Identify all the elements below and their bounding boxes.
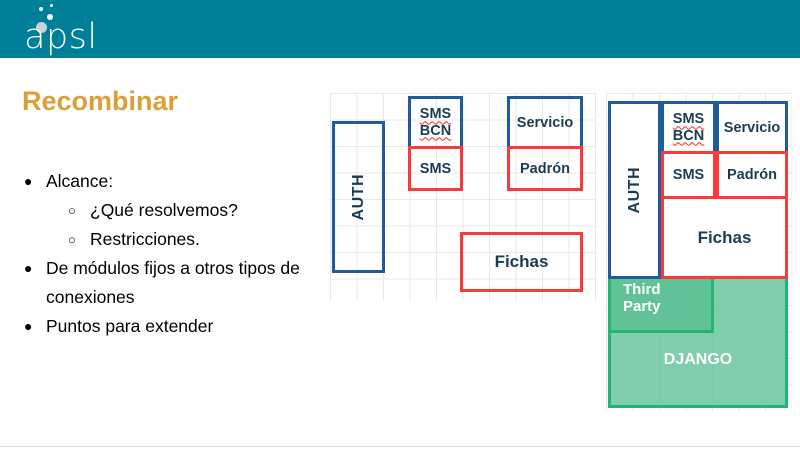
right-box-django-label: DJANGO [664,351,732,369]
right-box-padron-label: Padrón [727,167,777,183]
right-box-third-party-label-line1: Third [623,282,661,299]
footer-divider [0,446,800,447]
left-box-fichas-label: Fichas [495,252,549,272]
logo-bubble-small-icon [39,7,43,11]
list-item-label: De módulos fijos a otros tipos de conexi… [46,254,314,312]
left-box-sms-bcn-label-line1: SMS [420,106,451,122]
right-box-sms-label: SMS [673,167,704,183]
left-box-fichas: Fichas [460,232,583,292]
list-item-label: ¿Qué resolvemos? [90,196,314,225]
list-item-label: Puntos para extender [46,312,314,341]
left-box-padron-label: Padrón [520,161,570,177]
bullet-marker-icon: ● [24,254,46,283]
diagram-left-grid: AUTH SMS BCN SMS Servicio Padrón Fichas [330,93,596,301]
logo-bubble-tiny-icon [50,4,53,7]
logo-wordmark: apsl [24,20,98,55]
right-box-fichas-label: Fichas [698,228,752,248]
list-item: ● Puntos para extender [24,312,314,341]
left-box-sms: SMS [408,146,463,191]
right-box-padron: Padrón [716,151,788,199]
right-box-sms-bcn-label-line1: SMS [673,111,704,127]
left-box-sms-bcn-label-line2: BCN [420,123,451,139]
page-title: Recombinar [22,86,178,117]
bullet-marker-icon: ● [24,167,46,196]
list-item: ○ ¿Qué resolvemos? [68,196,314,225]
left-box-padron: Padrón [507,146,583,191]
right-box-third-party-label-line2: Party [623,299,661,316]
left-box-sms-bcn: SMS BCN [408,96,463,149]
left-box-servicio: Servicio [507,96,583,149]
right-box-auth-label: AUTH [626,167,644,213]
left-box-servicio-label: Servicio [517,115,573,131]
right-box-sms-bcn: SMS BCN [661,101,716,154]
list-item-label: Restricciones. [90,225,314,254]
left-box-auth: AUTH [332,121,385,273]
list-item-label: Alcance: [46,167,314,196]
header-band: apsl [0,0,800,58]
left-box-auth-label: AUTH [350,174,368,220]
right-box-fichas: Fichas [661,196,788,279]
bullet-marker-icon: ● [24,312,46,341]
right-box-sms: SMS [661,151,716,199]
diagram-right-grid: DJANGO Third Party AUTH SMS BCN Servicio… [606,93,792,411]
list-item: ● De módulos fijos a otros tipos de cone… [24,254,314,312]
apsl-logo: apsl [14,4,124,58]
left-box-sms-label: SMS [420,161,451,177]
bullet-list: ● Alcance: ○ ¿Qué resolvemos? ○ Restricc… [24,167,314,341]
right-box-sms-bcn-label-line2: BCN [673,128,704,144]
right-box-auth: AUTH [608,101,661,279]
bullet-marker-icon: ○ [68,196,90,225]
list-item: ● Alcance: [24,167,314,196]
list-item: ○ Restricciones. [68,225,314,254]
right-box-servicio: Servicio [716,101,788,154]
right-box-servicio-label: Servicio [724,120,780,136]
bullet-marker-icon: ○ [68,225,90,254]
